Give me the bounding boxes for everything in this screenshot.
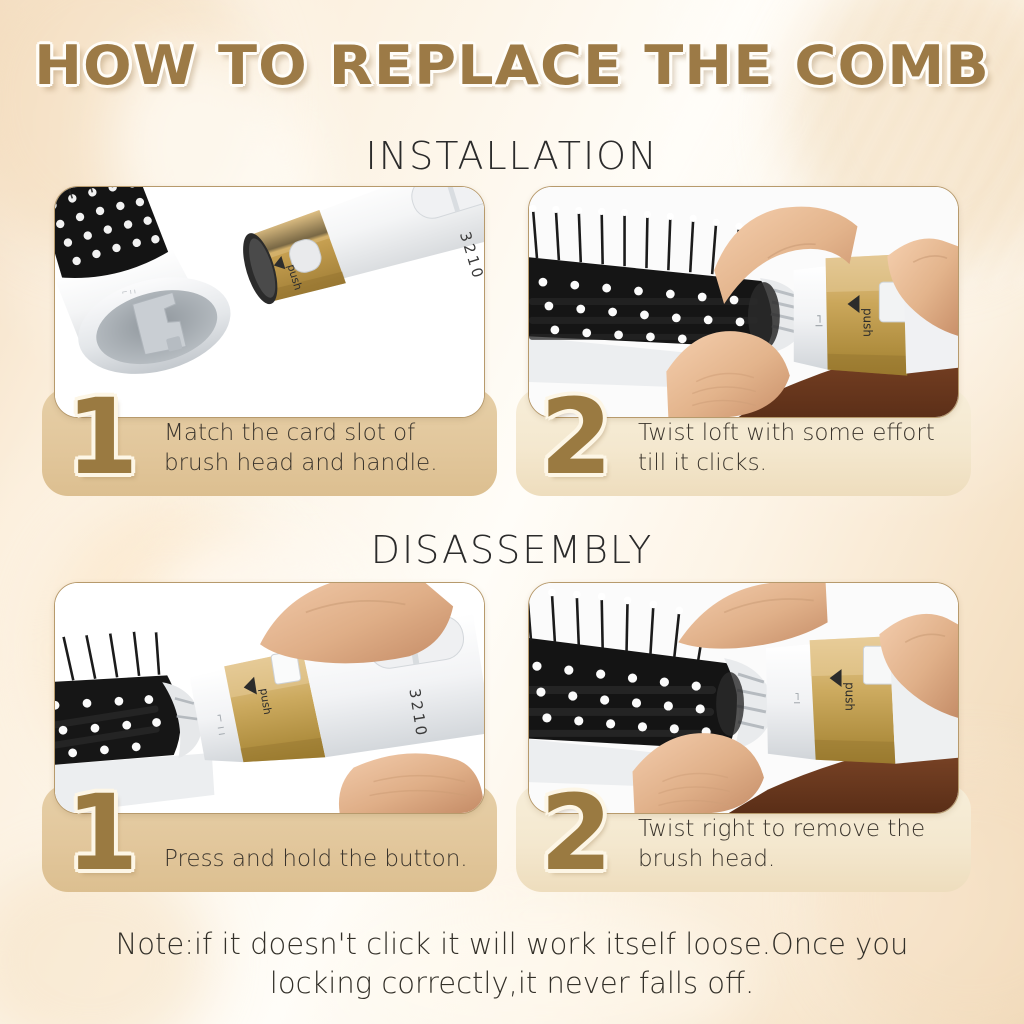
step-caption: Match the card slot of brush head and ha… (164, 419, 481, 478)
push-label-text: push (860, 308, 874, 337)
step-number: 2 (540, 789, 612, 878)
step-card-installation-1: ⌐ ı ı (42, 186, 497, 496)
infographic-page: HOW TO REPLACE THE COMB INSTALLATION DIS… (0, 0, 1024, 1024)
section-heading-disassembly: DISASSEMBLY (0, 528, 1024, 572)
section-heading-installation: INSTALLATION (0, 134, 1024, 178)
footer-note: Note:if it doesn't click it will work it… (60, 925, 964, 1003)
step-number: 1 (66, 789, 138, 878)
push-label-text: push (843, 682, 857, 711)
step-card-disassembly-2: ⌐ı push (516, 582, 971, 892)
step-number: 2 (540, 393, 612, 482)
step-caption: Twist right to remove the brush head. (638, 815, 955, 874)
step-card-installation-2: ⌐ı push (516, 186, 971, 496)
step-caption: Press and hold the button. (164, 845, 481, 874)
step-caption: Twist loft with some effort till it clic… (638, 419, 955, 478)
page-title: HOW TO REPLACE THE COMB (0, 34, 1024, 97)
molded-mark-text: ⌐ı (791, 692, 804, 704)
step-card-disassembly-1: ⌐ ı ı push (42, 582, 497, 892)
molded-mark-text: ⌐ı (813, 314, 827, 327)
svg-text:⌐ ı ı: ⌐ ı ı (121, 287, 136, 296)
step-number: 1 (66, 393, 138, 482)
